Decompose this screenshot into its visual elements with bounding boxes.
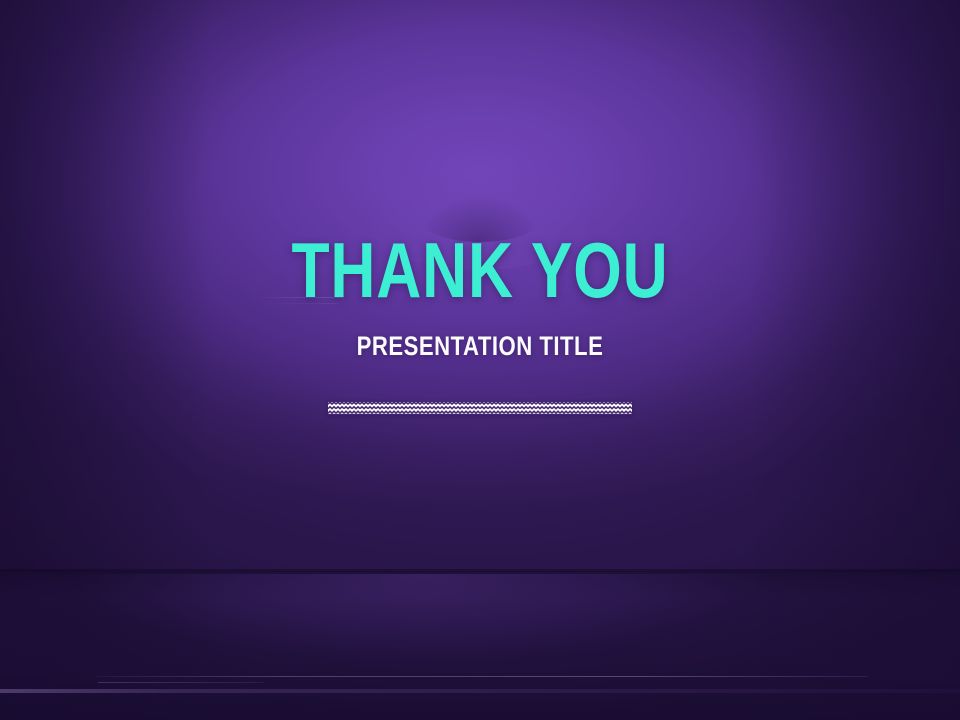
accent-line-long — [96, 676, 868, 677]
page-title: THANK YOU — [96, 231, 864, 309]
zigzag-icon — [328, 401, 632, 415]
page-subtitle: PRESENTATION TITLE — [86, 333, 873, 360]
presentation-slide: THANK YOU PRESENTATION TITLE — [0, 0, 960, 720]
lower-band-edge — [0, 569, 960, 572]
lower-band-sheen — [0, 574, 960, 669]
chevron-divider-bar — [328, 401, 632, 415]
accent-band-bottom — [0, 689, 960, 693]
accent-line-short — [98, 682, 264, 683]
